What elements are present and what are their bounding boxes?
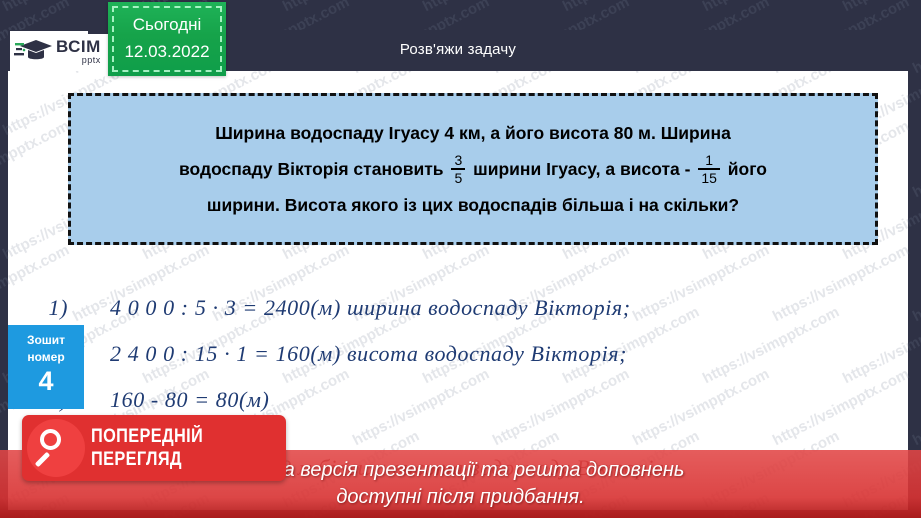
- watermark-text: https://vsimpptx.com: [910, 366, 921, 450]
- watermark-text: https://vsimpptx.com: [700, 0, 842, 15]
- watermark-text: https://vsimpptx.com: [280, 0, 422, 15]
- notebook-badge: Зошит номер 4: [8, 325, 84, 409]
- purchase-banner-line-1: Повна версія презентації та решта доповн…: [237, 457, 685, 484]
- date-badge: Сьогодні 12.03.2022: [108, 2, 226, 76]
- magnifier-lens: [40, 429, 61, 450]
- watermark-text: https://vsimpptx.com: [910, 118, 921, 202]
- preview-badge: ПОПЕРЕДНІЙ ПЕРЕГЛЯД: [22, 415, 286, 481]
- watermark-text: https://vsimpptx.com: [560, 0, 702, 15]
- solution-body: 4 0 0 0 : 5 · 3 = 2400(м) ширина водоспа…: [110, 295, 631, 321]
- logo-brand: ВСІМ: [56, 38, 101, 55]
- logo-sub: pptx: [56, 56, 101, 65]
- graduation-cap-icon: [14, 36, 54, 66]
- watermark-text: https://vsimpptx.com: [420, 0, 562, 15]
- solution-body: 2 4 0 0 : 15 · 1 = 160(м) висота водоспа…: [110, 341, 627, 367]
- task-line-3: ширини. Висота якого із цих водоспадів б…: [207, 195, 739, 215]
- fraction-numerator: 3: [451, 153, 465, 168]
- notebook-number: 4: [8, 368, 84, 395]
- purchase-banner-line-2: доступні після придбання.: [237, 484, 685, 511]
- task-line-2b: ширини Ігуасу, а висота -: [473, 159, 690, 179]
- notebook-label-2: номер: [8, 350, 84, 364]
- slide-root: https://vsimpptx.comhttps://vsimpptx.com…: [0, 0, 921, 518]
- magnifier-icon: [27, 419, 85, 477]
- watermark-text: https://vsimpptx.com: [0, 304, 2, 388]
- task-line-2c: його: [728, 159, 767, 179]
- solution-row: 1) 4 0 0 0 : 5 · 3 = 2400(м) ширина водо…: [8, 295, 908, 341]
- logo-text: ВСІМ pptx: [56, 38, 101, 65]
- magnifier-handle: [35, 452, 51, 468]
- watermark-text: https://vsimpptx.com: [0, 0, 2, 15]
- solution-list: 1) 4 0 0 0 : 5 · 3 = 2400(м) ширина водо…: [8, 295, 908, 433]
- preview-badge-line-1: ПОПЕРЕДНІЙ: [91, 425, 203, 448]
- date-badge-value: 12.03.2022: [108, 42, 226, 62]
- purchase-banner-text: Повна версія презентації та решта доповн…: [237, 457, 685, 511]
- task-line-1: Ширина водоспаду Ігуасу 4 км, а його вис…: [215, 123, 731, 143]
- task-callout: Ширина водоспаду Ігуасу 4 км, а його вис…: [68, 93, 878, 245]
- watermark-text: https://vsimpptx.com: [0, 180, 2, 264]
- solution-body: 160 - 80 = 80(м): [110, 387, 269, 413]
- fraction-denominator: 15: [698, 168, 720, 185]
- notebook-label-1: Зошит: [8, 333, 84, 347]
- solution-row: 2) 2 4 0 0 : 15 · 1 = 160(м) висота водо…: [8, 341, 908, 387]
- fraction-three-fifths: 3 5: [451, 153, 465, 185]
- watermark-text: https://vsimpptx.com: [0, 56, 2, 140]
- fraction-numerator: 1: [702, 153, 716, 168]
- watermark-text: https://vsimpptx.com: [840, 0, 921, 15]
- preview-badge-line-2: ПЕРЕГЛЯД: [91, 448, 203, 471]
- fraction-one-fifteenth: 1 15: [698, 153, 720, 185]
- brand-logo: ВСІМ pptx: [10, 31, 110, 71]
- watermark-text: https://vsimpptx.com: [910, 0, 921, 77]
- date-badge-label: Сьогодні: [108, 15, 226, 35]
- task-line-2a: водоспаду Вікторія становить: [179, 159, 444, 179]
- task-text: Ширина водоспаду Ігуасу 4 км, а його вис…: [71, 115, 875, 223]
- header-wedge: [88, 0, 110, 34]
- watermark-text: https://vsimpptx.com: [910, 242, 921, 326]
- solution-index: 1): [8, 295, 68, 321]
- fraction-denominator: 5: [451, 168, 465, 185]
- preview-badge-text: ПОПЕРЕДНІЙ ПЕРЕГЛЯД: [91, 425, 203, 471]
